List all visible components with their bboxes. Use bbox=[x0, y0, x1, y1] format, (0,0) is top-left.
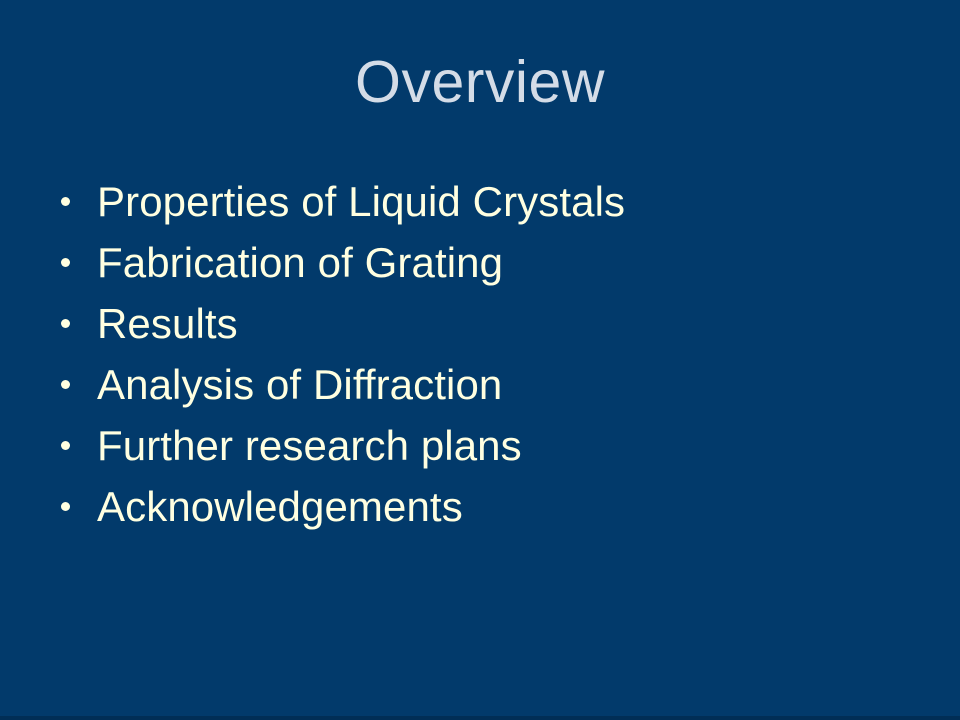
list-item-label: Further research plans bbox=[97, 415, 522, 476]
page-title: Overview bbox=[0, 53, 960, 112]
bullet-list: Properties of Liquid Crystals Fabricatio… bbox=[0, 171, 960, 537]
list-item: Analysis of Diffraction bbox=[0, 354, 960, 415]
list-item-label: Analysis of Diffraction bbox=[97, 354, 502, 415]
bullet-point-icon bbox=[61, 380, 70, 389]
list-item-label: Fabrication of Grating bbox=[97, 232, 503, 293]
list-item: Acknowledgements bbox=[0, 476, 960, 537]
bullet-point-icon bbox=[61, 258, 70, 267]
bullet-point-icon bbox=[61, 502, 70, 511]
list-item-label: Properties of Liquid Crystals bbox=[97, 171, 625, 232]
list-item: Results bbox=[0, 293, 960, 354]
bullet-point-icon bbox=[61, 319, 70, 328]
bullet-point-icon bbox=[61, 441, 70, 450]
list-item-label: Acknowledgements bbox=[97, 476, 463, 537]
list-item: Fabrication of Grating bbox=[0, 232, 960, 293]
presentation-slide: Overview Properties of Liquid Crystals F… bbox=[0, 0, 960, 720]
list-item-label: Results bbox=[97, 293, 238, 354]
bullet-point-icon bbox=[61, 197, 70, 206]
list-item: Further research plans bbox=[0, 415, 960, 476]
list-item: Properties of Liquid Crystals bbox=[0, 171, 960, 232]
